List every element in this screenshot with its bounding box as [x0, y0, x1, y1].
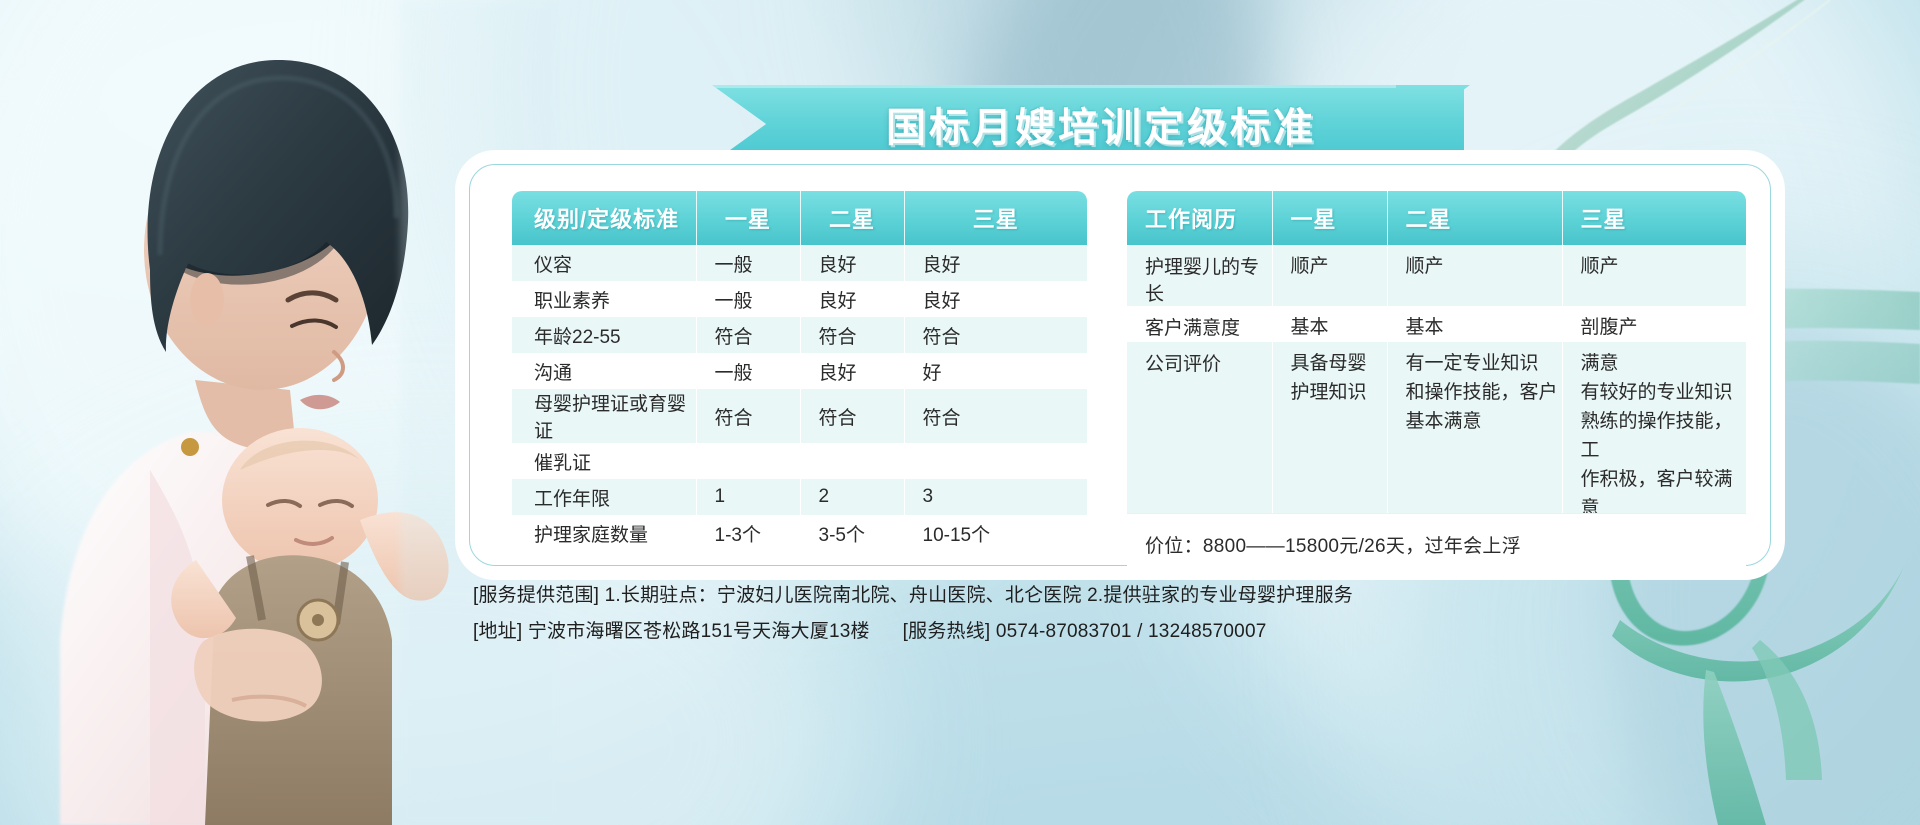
cell-two: 3-5个 — [800, 515, 904, 551]
cell-two: 顺产 — [1387, 245, 1562, 306]
header-cell-one-star: 一星 — [696, 191, 800, 245]
cell-label: 仪容 — [512, 245, 696, 281]
cell-label: 职业素养 — [512, 281, 696, 317]
price-note: 价位：8800——15800元/26天，过年会上浮 — [1127, 531, 1521, 558]
table-row: 仪容一般良好良好 — [512, 245, 1087, 281]
cell-line: 具备母婴 — [1291, 349, 1387, 378]
cell-line: 满意 — [1581, 349, 1747, 378]
cell-three: 3 — [904, 479, 1087, 515]
header-cell-experience: 工作阅历 — [1127, 191, 1272, 245]
cell-one: 1-3个 — [696, 515, 800, 551]
work-experience-table: 工作阅历 一星 二星 三星 护理婴儿的专长顺产顺产顺产客户满意度基本基本剖腹产公… — [1127, 191, 1746, 523]
cell-two — [800, 443, 904, 479]
table-row: 工作年限123 — [512, 479, 1087, 515]
cell-three: 良好 — [904, 245, 1087, 281]
cell-two: 2 — [800, 479, 904, 515]
work-experience-table-body: 护理婴儿的专长顺产顺产顺产客户满意度基本基本剖腹产公司评价具备母婴护理知识有一定… — [1127, 245, 1746, 523]
cell-three: 10-15个 — [904, 515, 1087, 551]
cell-two: 良好 — [800, 281, 904, 317]
cell-three — [904, 443, 1087, 479]
cell-three: 顺产 — [1562, 245, 1746, 306]
cell-two: 符合 — [800, 389, 904, 443]
header-cell-criteria: 级别/定级标准 — [512, 191, 696, 245]
cell-label: 公司评价 — [1127, 342, 1272, 523]
table-row: 职业素养一般良好良好 — [512, 281, 1087, 317]
cell-one: 符合 — [696, 389, 800, 443]
footer-info: [服务提供范围] 1.长期驻点：宁波妇儿医院南北院、舟山医院、北仑医院 2.提供… — [473, 578, 1773, 650]
footer-contact-line: [地址] 宁波市海曙区苍松路151号天海大厦13楼 [服务热线] 0574-87… — [473, 614, 1773, 650]
cell-one: 一般 — [696, 281, 800, 317]
cell-two: 符合 — [800, 317, 904, 353]
header-cell-one-star: 一星 — [1272, 191, 1387, 245]
banner-title: 国标月嫂培训定级标准 — [886, 95, 1316, 153]
cell-three: 良好 — [904, 281, 1087, 317]
table-row: 年龄22-55符合符合符合 — [512, 317, 1087, 353]
cell-line: 基本满意 — [1406, 407, 1562, 436]
price-note-strip: 价位：8800——15800元/26天，过年会上浮 — [1127, 513, 1746, 574]
cell-label: 年龄22-55 — [512, 317, 696, 353]
cell-label: 沟通 — [512, 353, 696, 389]
table-row: 公司评价具备母婴护理知识有一定专业知识和操作技能，客户基本满意满意有较好的专业知… — [1127, 342, 1746, 523]
cell-line: 顺产 — [1291, 252, 1387, 281]
cell-two: 良好 — [800, 353, 904, 389]
cell-one: 具备母婴护理知识 — [1272, 342, 1387, 523]
table-row: 催乳证 — [512, 443, 1087, 479]
cell-one — [696, 443, 800, 479]
cell-label: 母婴护理证或育婴证 — [512, 389, 696, 443]
content-card: 级别/定级标准 一星 二星 三星 仪容一般良好良好职业素养一般良好良好年龄22-… — [455, 150, 1785, 580]
cell-two: 有一定专业知识和操作技能，客户基本满意 — [1387, 342, 1562, 523]
cell-one: 1 — [696, 479, 800, 515]
table-row: 护理婴儿的专长顺产顺产顺产 — [1127, 245, 1746, 306]
cell-line: 剖腹产 — [1581, 313, 1747, 342]
grading-standard-table-body: 仪容一般良好良好职业素养一般良好良好年龄22-55符合符合符合沟通一般良好好母婴… — [512, 245, 1087, 551]
grading-standard-table-wrap: 级别/定级标准 一星 二星 三星 仪容一般良好良好职业素养一般良好良好年龄22-… — [512, 191, 1087, 551]
cell-one: 符合 — [696, 317, 800, 353]
cell-line: 基本 — [1406, 313, 1562, 342]
table-header-row: 工作阅历 一星 二星 三星 — [1127, 191, 1746, 245]
table-row: 客户满意度基本基本剖腹产 — [1127, 306, 1746, 342]
header-cell-two-star: 二星 — [1387, 191, 1562, 245]
cell-line: 熟练的操作技能，工 — [1581, 407, 1747, 465]
cell-line: 有一定专业知识 — [1406, 349, 1562, 378]
cell-three: 满意有较好的专业知识熟练的操作技能，工作积极，客户较满意 — [1562, 342, 1746, 523]
header-cell-two-star: 二星 — [800, 191, 904, 245]
table-row: 沟通一般良好好 — [512, 353, 1087, 389]
cell-label: 护理家庭数量 — [512, 515, 696, 551]
grading-standard-table: 级别/定级标准 一星 二星 三星 仪容一般良好良好职业素养一般良好良好年龄22-… — [512, 191, 1087, 551]
footer-hotline: [服务热线] 0574-87083701 / 13248570007 — [903, 621, 1267, 642]
footer-service-scope: [服务提供范围] 1.长期驻点：宁波妇儿医院南北院、舟山医院、北仑医院 2.提供… — [473, 578, 1773, 614]
cell-three: 剖腹产 — [1562, 306, 1746, 342]
footer-address: [地址] 宁波市海曙区苍松路151号天海大厦13楼 — [473, 621, 870, 642]
cell-three: 符合 — [904, 317, 1087, 353]
cell-line: 护理知识 — [1291, 378, 1387, 407]
cell-one: 顺产 — [1272, 245, 1387, 306]
cell-three: 好 — [904, 353, 1087, 389]
cell-line: 基本 — [1291, 313, 1387, 342]
cell-label: 工作年限 — [512, 479, 696, 515]
header-cell-three-star: 三星 — [904, 191, 1087, 245]
cell-label: 护理婴儿的专长 — [1127, 245, 1272, 306]
cell-line: 顺产 — [1406, 252, 1562, 281]
cell-three: 符合 — [904, 389, 1087, 443]
header-cell-three-star: 三星 — [1562, 191, 1746, 245]
cell-one: 基本 — [1272, 306, 1387, 342]
card-inner: 级别/定级标准 一星 二星 三星 仪容一般良好良好职业素养一般良好良好年龄22-… — [469, 164, 1771, 566]
cell-two: 良好 — [800, 245, 904, 281]
cell-line: 和操作技能，客户 — [1406, 378, 1562, 407]
cell-two: 基本 — [1387, 306, 1562, 342]
table-header-row: 级别/定级标准 一星 二星 三星 — [512, 191, 1087, 245]
table-row: 母婴护理证或育婴证符合符合符合 — [512, 389, 1087, 443]
cell-label: 催乳证 — [512, 443, 696, 479]
cell-label: 客户满意度 — [1127, 306, 1272, 342]
cell-one: 一般 — [696, 353, 800, 389]
cell-line: 有较好的专业知识 — [1581, 378, 1747, 407]
cell-one: 一般 — [696, 245, 800, 281]
table-row: 护理家庭数量1-3个3-5个10-15个 — [512, 515, 1087, 551]
cell-line: 顺产 — [1581, 252, 1747, 281]
work-experience-table-wrap: 工作阅历 一星 二星 三星 护理婴儿的专长顺产顺产顺产客户满意度基本基本剖腹产公… — [1127, 191, 1746, 523]
